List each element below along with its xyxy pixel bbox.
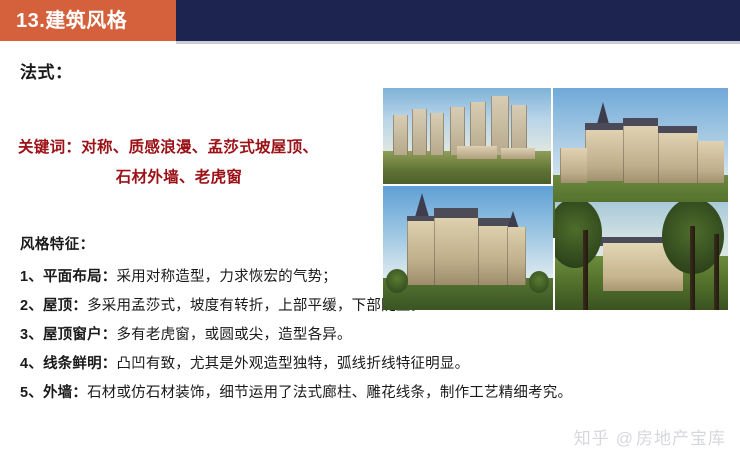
tree-shape bbox=[386, 269, 408, 293]
list-item: 5、外墙：石材或仿石材装饰，细节运用了法式廊柱、雕花线条，制作工艺精细考究。 bbox=[20, 379, 720, 408]
low-rise-shape bbox=[457, 146, 497, 159]
building-block bbox=[434, 218, 480, 285]
low-rise-shape bbox=[501, 148, 535, 160]
slide-header-navy-band bbox=[176, 0, 740, 41]
building-block bbox=[585, 130, 625, 181]
feature-label: 屋顶窗户： bbox=[43, 327, 117, 343]
feature-number: 5、 bbox=[20, 385, 43, 401]
feature-label: 外墙： bbox=[43, 385, 87, 401]
tower-shape bbox=[393, 115, 408, 155]
zhihu-watermark: 知乎@房地产宝库 bbox=[574, 424, 726, 449]
style-name-heading: 法式： bbox=[20, 58, 73, 83]
feature-label: 屋顶： bbox=[43, 298, 87, 314]
watermark-at-symbol: @ bbox=[616, 429, 634, 448]
keywords-line-1: 关键词：对称、质感浪漫、孟莎式坡屋顶、 bbox=[18, 133, 374, 163]
feature-text: 多有老虎窗，或圆或尖，造型各异。 bbox=[116, 327, 351, 343]
keywords-line-2: 石材外墙、老虎窗 bbox=[18, 163, 374, 193]
photo-french-castle-tower-building bbox=[383, 186, 553, 310]
watermark-platform: 知乎 bbox=[574, 429, 610, 448]
feature-number: 1、 bbox=[20, 269, 43, 285]
tree-trunk bbox=[690, 226, 695, 310]
building-block bbox=[507, 227, 526, 285]
feature-text: 采用对称造型，力求恢宏的气势； bbox=[116, 269, 337, 285]
building-block bbox=[623, 126, 659, 183]
building-block bbox=[407, 221, 436, 285]
feature-text: 石材或仿石材装饰，细节运用了法式廊柱、雕花线条，制作工艺精细考究。 bbox=[87, 385, 572, 401]
tree-shape bbox=[529, 271, 549, 293]
feature-label: 平面布局： bbox=[43, 269, 117, 285]
building-block bbox=[658, 133, 698, 183]
feature-text: 多采用孟莎式，坡度有转折，上部平缓，下部陡直。 bbox=[87, 298, 425, 314]
slide-section-tab: 13.建筑风格 bbox=[0, 0, 176, 41]
slide-header-bar: 13.建筑风格 bbox=[0, 0, 740, 41]
tower-shape bbox=[412, 109, 427, 155]
feature-number: 4、 bbox=[20, 356, 43, 372]
photo-collage bbox=[383, 88, 728, 310]
spire-shape bbox=[597, 102, 609, 124]
feature-number: 2、 bbox=[20, 298, 43, 314]
list-item: 3、屋顶窗户：多有老虎窗，或圆或尖，造型各异。 bbox=[20, 321, 720, 350]
slide-content: 法式： 关键词：对称、质感浪漫、孟莎式坡屋顶、 石材外墙、老虎窗 风格特征： 1… bbox=[0, 41, 740, 463]
tree-trunk bbox=[714, 234, 719, 310]
spire-shape bbox=[415, 193, 429, 217]
tower-shape bbox=[430, 113, 444, 155]
watermark-account: 房地产宝库 bbox=[636, 429, 726, 448]
building-block bbox=[697, 141, 724, 183]
tree-trunk bbox=[583, 230, 588, 310]
feature-number: 3、 bbox=[20, 327, 43, 343]
photo-french-villa-among-trees bbox=[555, 202, 728, 310]
features-heading: 风格特征： bbox=[20, 233, 95, 254]
feature-label: 线条鲜明： bbox=[43, 356, 117, 372]
slide-section-title: 13.建筑风格 bbox=[16, 11, 127, 31]
list-item: 4、线条鲜明：凸凹有致，尤其是外观造型独特，弧线折线特征明显。 bbox=[20, 350, 720, 379]
photo-high-rise-residential-towers bbox=[383, 88, 551, 184]
building-block bbox=[560, 148, 587, 183]
keywords-block: 关键词：对称、质感浪漫、孟莎式坡屋顶、 石材外墙、老虎窗 bbox=[18, 133, 374, 193]
feature-text: 凸凹有致，尤其是外观造型独特，弧线折线特征明显。 bbox=[116, 356, 469, 372]
